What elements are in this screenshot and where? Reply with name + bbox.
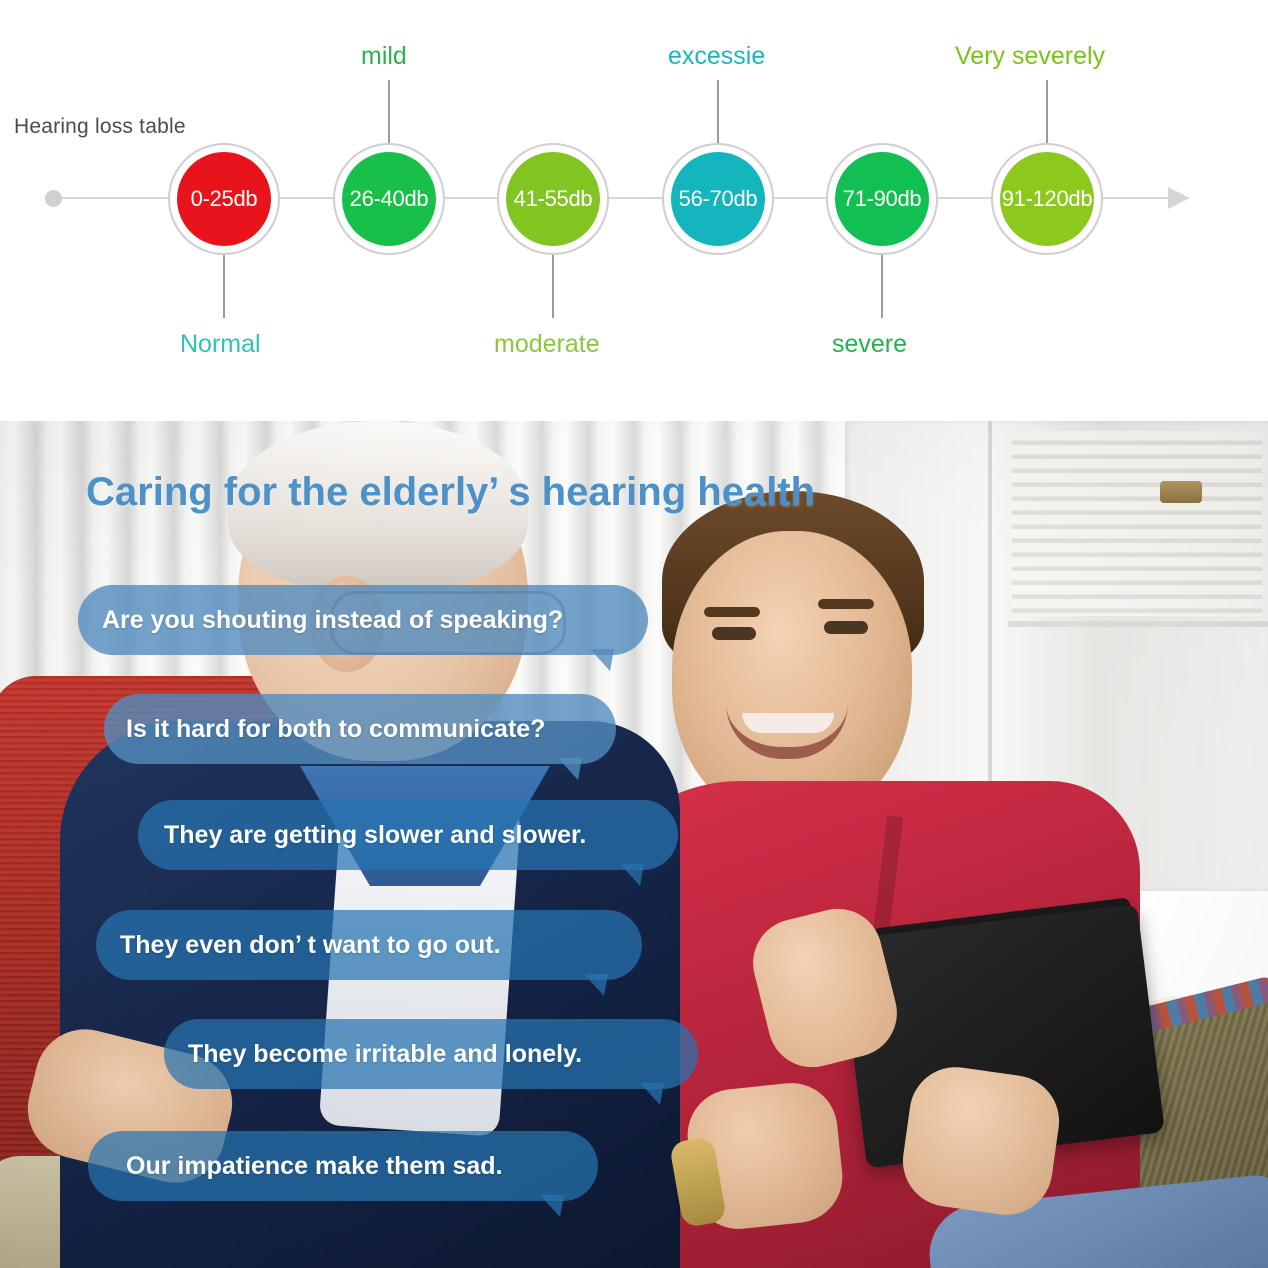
speech-bubble-4-text: They even don’ t want to go out.	[120, 931, 501, 960]
hearing-node-4[interactable]: 71-90db	[826, 143, 938, 255]
hearing-node-5[interactable]: 91-120db	[991, 143, 1103, 255]
stem-node-3	[717, 80, 719, 143]
speech-bubble-4[interactable]: They even don’ t want to go out.	[96, 910, 642, 980]
hearing-node-2[interactable]: 41-55db	[497, 143, 609, 255]
node-range-label: 91-120db	[991, 143, 1103, 255]
node-range-label: 0-25db	[168, 143, 280, 255]
speech-bubble-1[interactable]: Are you shouting instead of speaking?	[78, 585, 648, 655]
caption-mild: mild	[361, 42, 407, 71]
node-range-label: 41-55db	[497, 143, 609, 255]
axis-arrow-icon	[1168, 187, 1190, 209]
speech-bubble-2[interactable]: Is it hard for both to communicate?	[104, 694, 616, 764]
speech-bubble-tail-icon	[620, 864, 644, 886]
caption-very-severely: Very severely	[955, 42, 1105, 71]
speech-bubble-5-text: They become irritable and lonely.	[188, 1040, 582, 1069]
speech-bubble-tail-icon	[584, 974, 608, 996]
diagram-title: Hearing loss table	[14, 115, 186, 139]
hearing-node-0[interactable]: 0-25db	[168, 143, 280, 255]
caption-severe: severe	[832, 330, 907, 359]
speech-bubble-6[interactable]: Our impatience make them sad.	[88, 1131, 598, 1201]
speech-bubble-5[interactable]: They become irritable and lonely.	[164, 1019, 698, 1089]
hearing-loss-table-diagram: Hearing loss table 0-25db Normal 26-40db…	[0, 0, 1268, 421]
node-range-label: 71-90db	[826, 143, 938, 255]
stem-node-2	[552, 255, 554, 318]
speech-bubble-3[interactable]: They are getting slower and slower.	[138, 800, 678, 870]
speech-bubble-tail-icon	[558, 758, 582, 780]
node-range-label: 26-40db	[333, 143, 445, 255]
stem-node-0	[223, 255, 225, 318]
speech-bubble-6-text: Our impatience make them sad.	[126, 1152, 503, 1181]
speech-bubble-tail-icon	[640, 1083, 664, 1105]
stem-node-5	[1046, 80, 1048, 143]
axis-start-dot	[45, 190, 62, 207]
hearing-node-1[interactable]: 26-40db	[333, 143, 445, 255]
speech-bubble-tail-icon	[540, 1195, 564, 1217]
caption-moderate: moderate	[494, 330, 600, 359]
speech-bubble-tail-icon	[590, 649, 614, 671]
speech-bubble-2-text: Is it hard for both to communicate?	[126, 715, 545, 744]
stem-node-1	[388, 80, 390, 143]
stem-node-4	[881, 255, 883, 318]
caption-excessie: excessie	[668, 42, 765, 71]
caption-normal: Normal	[180, 330, 261, 359]
speech-bubble-3-text: They are getting slower and slower.	[164, 821, 586, 850]
page-root: Hearing loss table 0-25db Normal 26-40db…	[0, 0, 1268, 1268]
speech-bubble-1-text: Are you shouting instead of speaking?	[102, 606, 563, 635]
hearing-node-3[interactable]: 56-70db	[662, 143, 774, 255]
page-title: Caring for the elderly’ s hearing health	[86, 470, 815, 515]
node-range-label: 56-70db	[662, 143, 774, 255]
